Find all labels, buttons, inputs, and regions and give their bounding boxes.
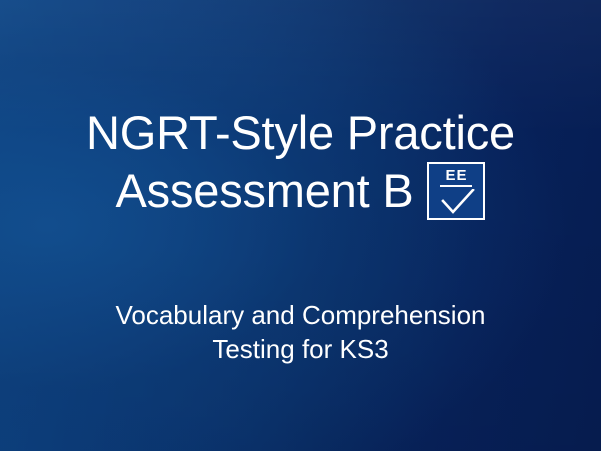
slide-title: NGRT-Style Practice Assessment B EE [0,104,601,220]
subtitle-line-1: Vocabulary and Comprehension [0,298,601,332]
logo-underline [440,185,472,187]
ee-checkbox-logo-icon: EE [427,162,485,220]
logo-text: EE [429,168,483,183]
title-line-2: Assessment B [116,162,414,220]
slide-subtitle: Vocabulary and Comprehension Testing for… [0,298,601,366]
subtitle-line-2: Testing for KS3 [0,332,601,366]
title-slide: NGRT-Style Practice Assessment B EE Voca… [0,0,601,451]
title-line-2-row: Assessment B EE [116,162,486,220]
title-line-1: NGRT-Style Practice [0,104,601,162]
check-icon [441,189,475,215]
